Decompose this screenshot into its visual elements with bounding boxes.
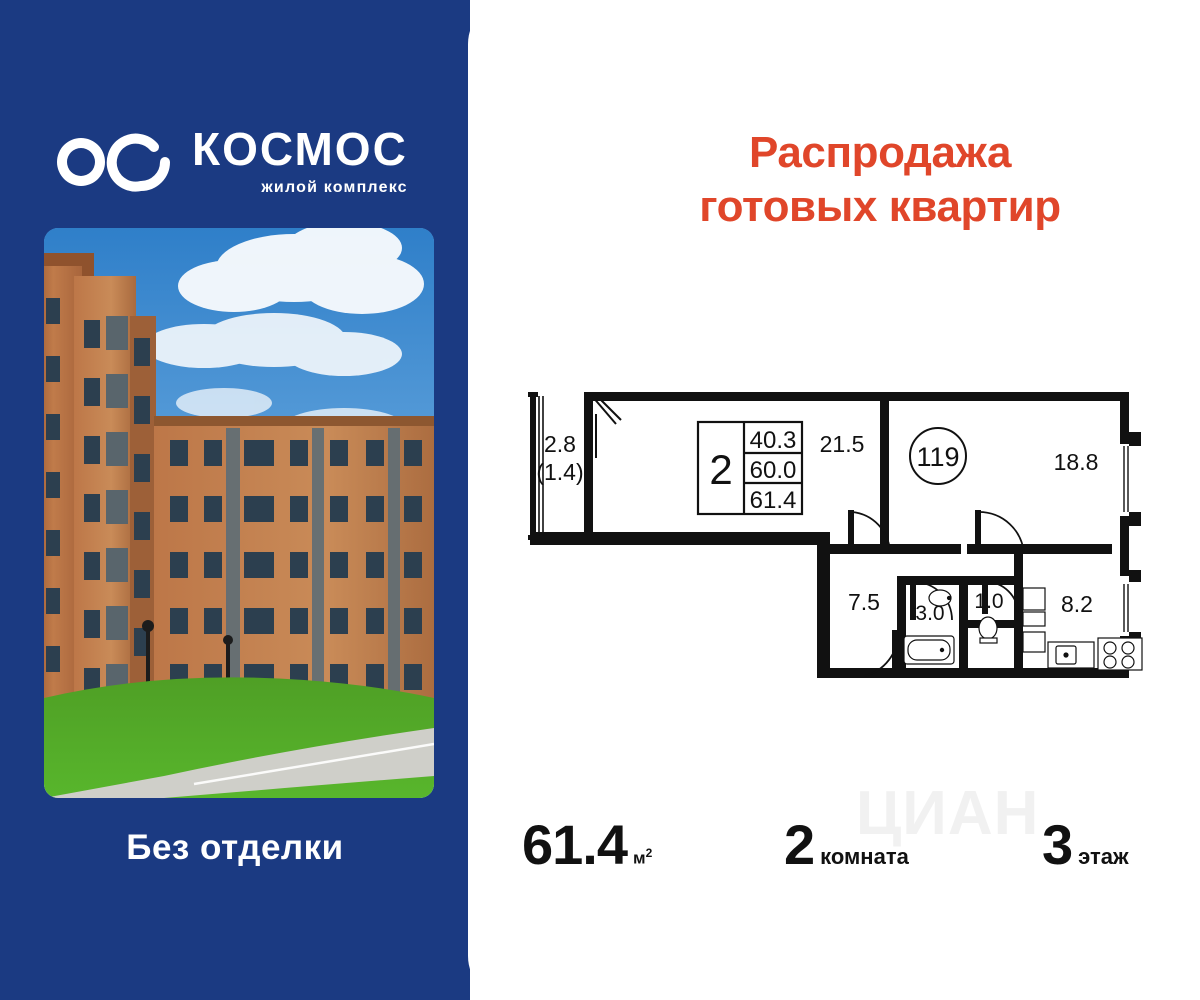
stat-area-value: 61.4 [522, 812, 627, 877]
badge-total-area: 61.4 [750, 487, 797, 514]
infinity-icon [48, 129, 174, 195]
stat-area: 61.4 м2 [522, 812, 652, 877]
brand-text: КОСМОС жилой комплекс [192, 126, 408, 197]
stat-area-unit: м2 [633, 846, 652, 869]
stat-floor-value: 3 [1042, 812, 1072, 877]
badge-living-area: 40.3 [750, 427, 797, 454]
building-photo [44, 228, 434, 798]
room-label-kitchen: 8.2 [1061, 591, 1093, 617]
room-label-living-room: 21.5 [820, 431, 865, 457]
stat-rooms-unit: комната [820, 844, 909, 870]
advert-card: КОСМОС жилой комплекс [0, 0, 1200, 1000]
headline-line-2: готовых квартир [600, 180, 1160, 234]
room-label-wc: 1.0 [974, 590, 1003, 613]
brand-logo: КОСМОС жилой комплекс [48, 126, 408, 197]
room-label-hall: 7.5 [848, 589, 880, 615]
floor-plan: 119 2 40.3 60.0 61.4 2.8 (1.4) 21.5 18.8… [512, 380, 1162, 680]
stat-rooms-value: 2 [784, 812, 814, 877]
badge-area-no-balcony: 60.0 [750, 457, 797, 484]
badge-rooms: 2 [709, 446, 732, 493]
room-label-bathroom: 3.0 [915, 602, 944, 625]
finish-label: Без отделки [0, 828, 470, 868]
stat-floor: 3 этаж [1042, 812, 1129, 877]
brand-title: КОСМОС [192, 126, 408, 172]
apartment-number: 119 [916, 442, 959, 472]
room-label-balcony: 2.8 [544, 431, 576, 457]
room-sublabel-balcony: (1.4) [536, 459, 583, 485]
stat-rooms: 2 комната [784, 812, 909, 877]
room-label-bedroom: 18.8 [1054, 449, 1099, 475]
summary-stats: 61.4 м2 2 комната 3 этаж [512, 812, 1192, 892]
page-title: Распродажа готовых квартир [600, 126, 1160, 233]
brand-subtitle: жилой комплекс [192, 179, 408, 197]
stat-floor-unit: этаж [1078, 844, 1128, 870]
headline-line-1: Распродажа [749, 128, 1011, 177]
